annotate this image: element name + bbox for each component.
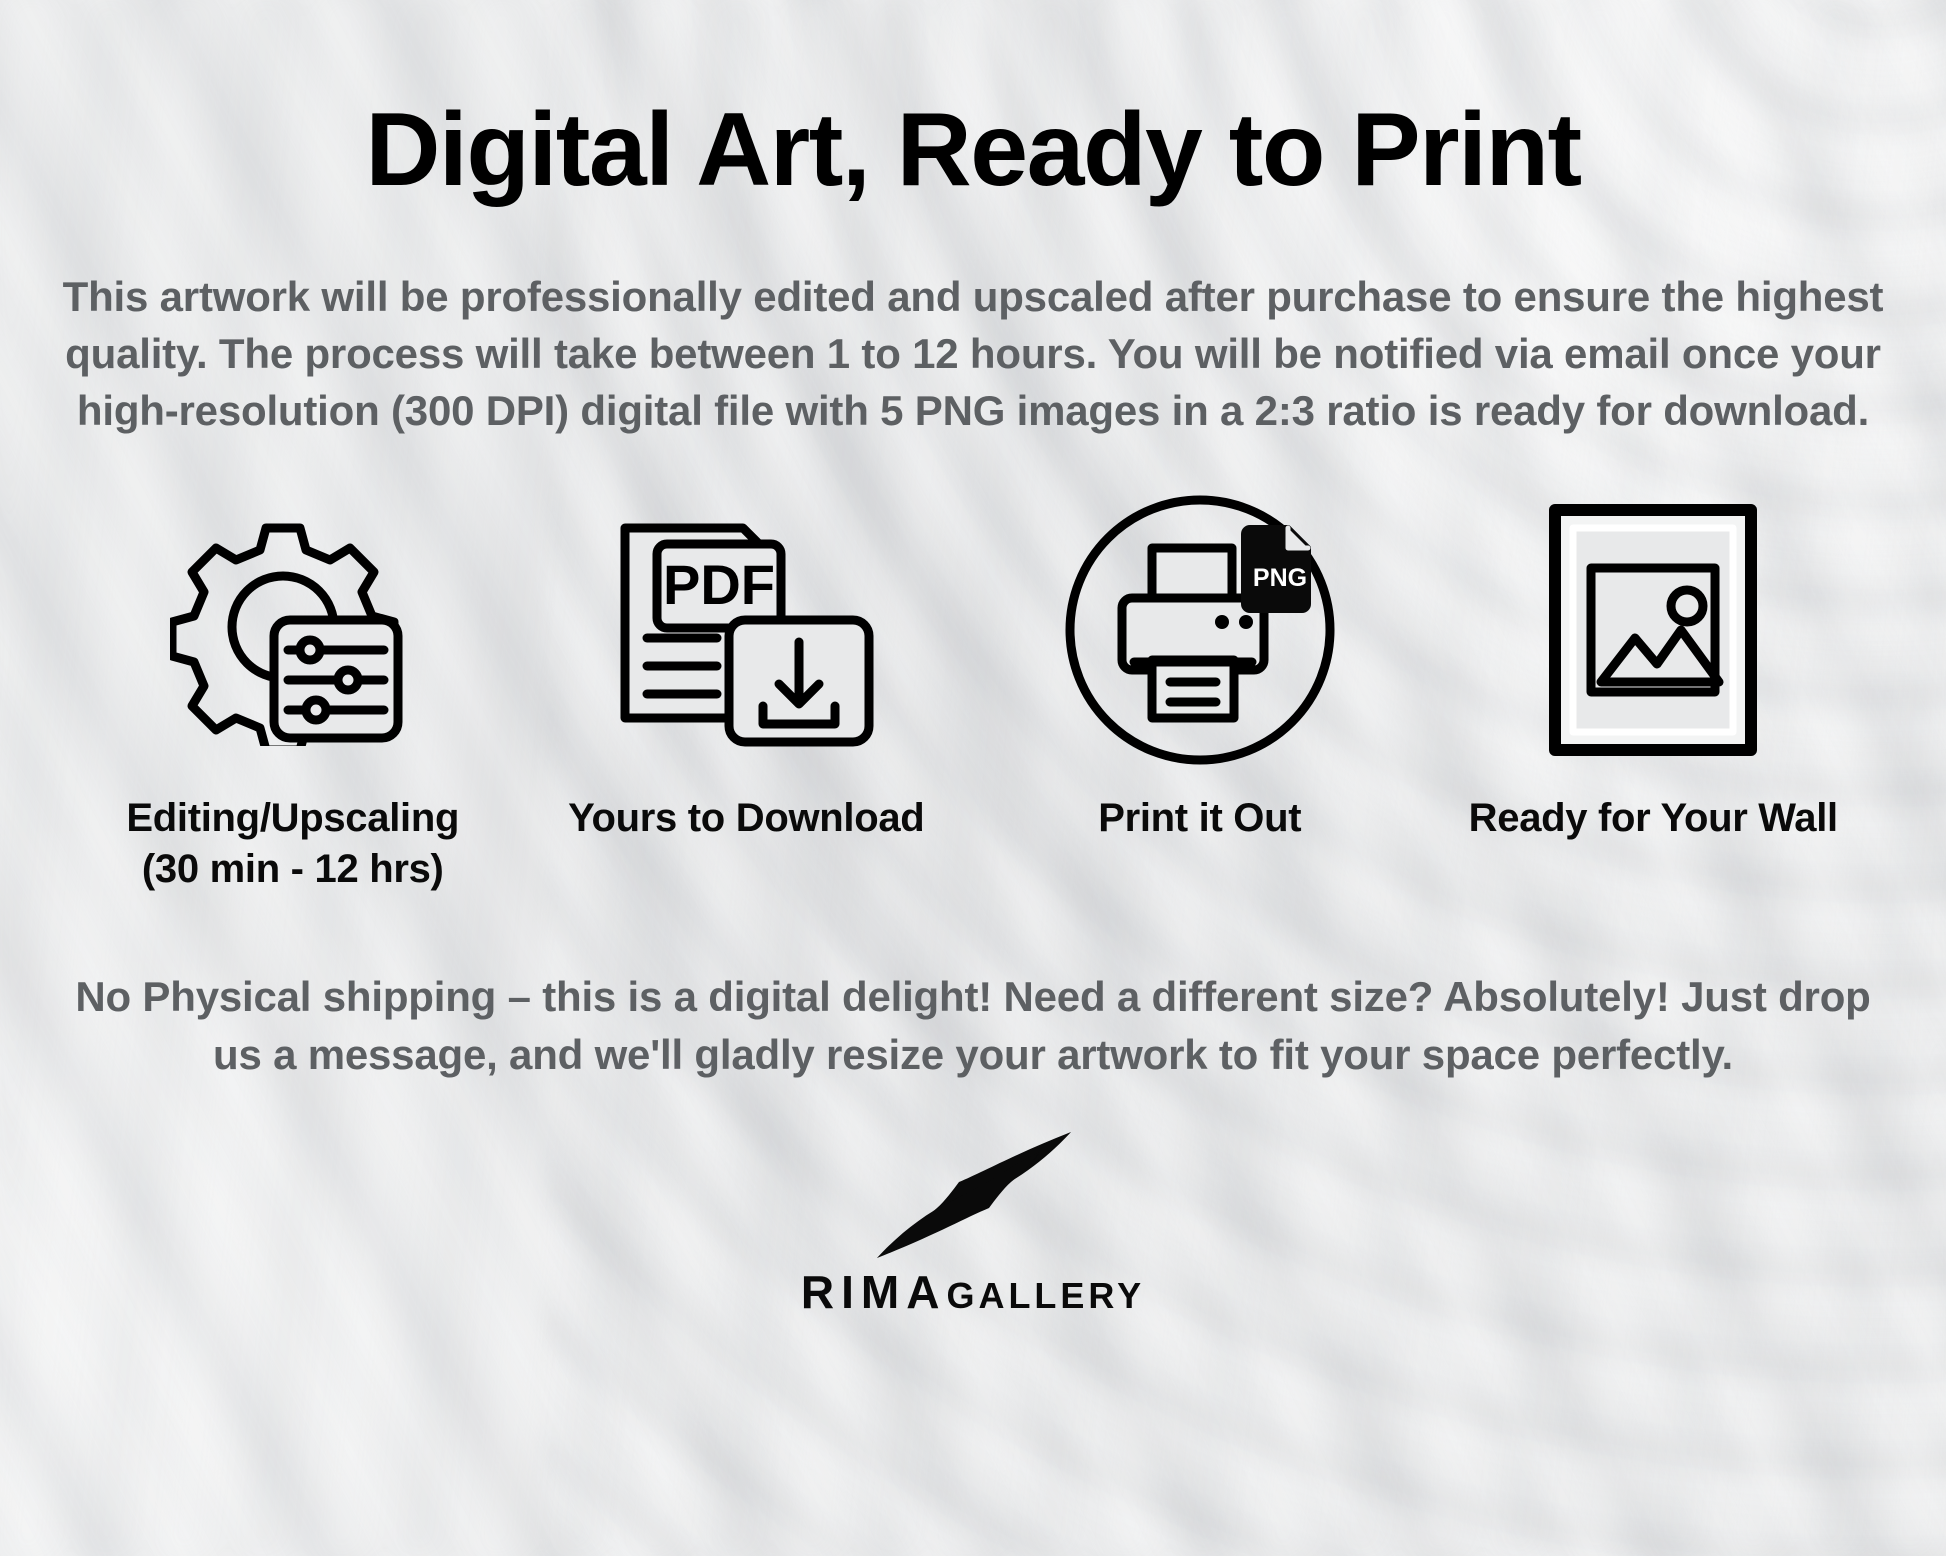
feature-label-print-it-out: Print it Out: [1098, 793, 1301, 843]
rima-swoosh-logo-icon: [863, 1128, 1083, 1263]
page-title: Digital Art, Ready to Print: [56, 0, 1890, 205]
feature-label-line1: Editing/Upscaling: [126, 796, 459, 840]
feature-yours-to-download: PDF Yours to Download: [520, 485, 974, 894]
feature-editing-upscaling: Editing/Upscaling (30 min - 12 hrs): [66, 485, 520, 894]
feature-row: Editing/Upscaling (30 min - 12 hrs) PDF: [56, 485, 1890, 894]
feature-label-ready-for-your-wall: Ready for Your Wall: [1469, 793, 1838, 843]
png-badge: PNG: [1244, 528, 1308, 610]
feature-ready-for-your-wall: Ready for Your Wall: [1427, 485, 1881, 894]
closing-note: No Physical shipping – this is a digital…: [56, 968, 1890, 1084]
framed-picture-icon: [1545, 485, 1761, 775]
feature-label-line2: (30 min - 12 hrs): [142, 847, 444, 891]
feature-label-yours-to-download: Yours to Download: [568, 793, 924, 843]
poster-content: Digital Art, Ready to Print This artwork…: [0, 0, 1946, 1556]
gear-sliders-icon: [170, 485, 416, 775]
brand-footer: RIMA GALLERY: [56, 1128, 1890, 1319]
printer-png-icon: PNG: [1060, 485, 1340, 775]
pdf-download-icon: PDF: [611, 485, 881, 775]
png-badge-text: PNG: [1253, 564, 1307, 592]
brand-name-secondary: GALLERY: [946, 1275, 1145, 1317]
brand-name-primary: RIMA: [801, 1265, 947, 1319]
feature-print-it-out: PNG Print it Out: [973, 485, 1427, 894]
pdf-badge-text: PDF: [663, 553, 775, 616]
brand-wordmark: RIMA GALLERY: [801, 1265, 1145, 1319]
feature-label-editing-upscaling: Editing/Upscaling (30 min - 12 hrs): [126, 793, 459, 894]
intro-paragraph: This artwork will be professionally edit…: [56, 269, 1890, 439]
